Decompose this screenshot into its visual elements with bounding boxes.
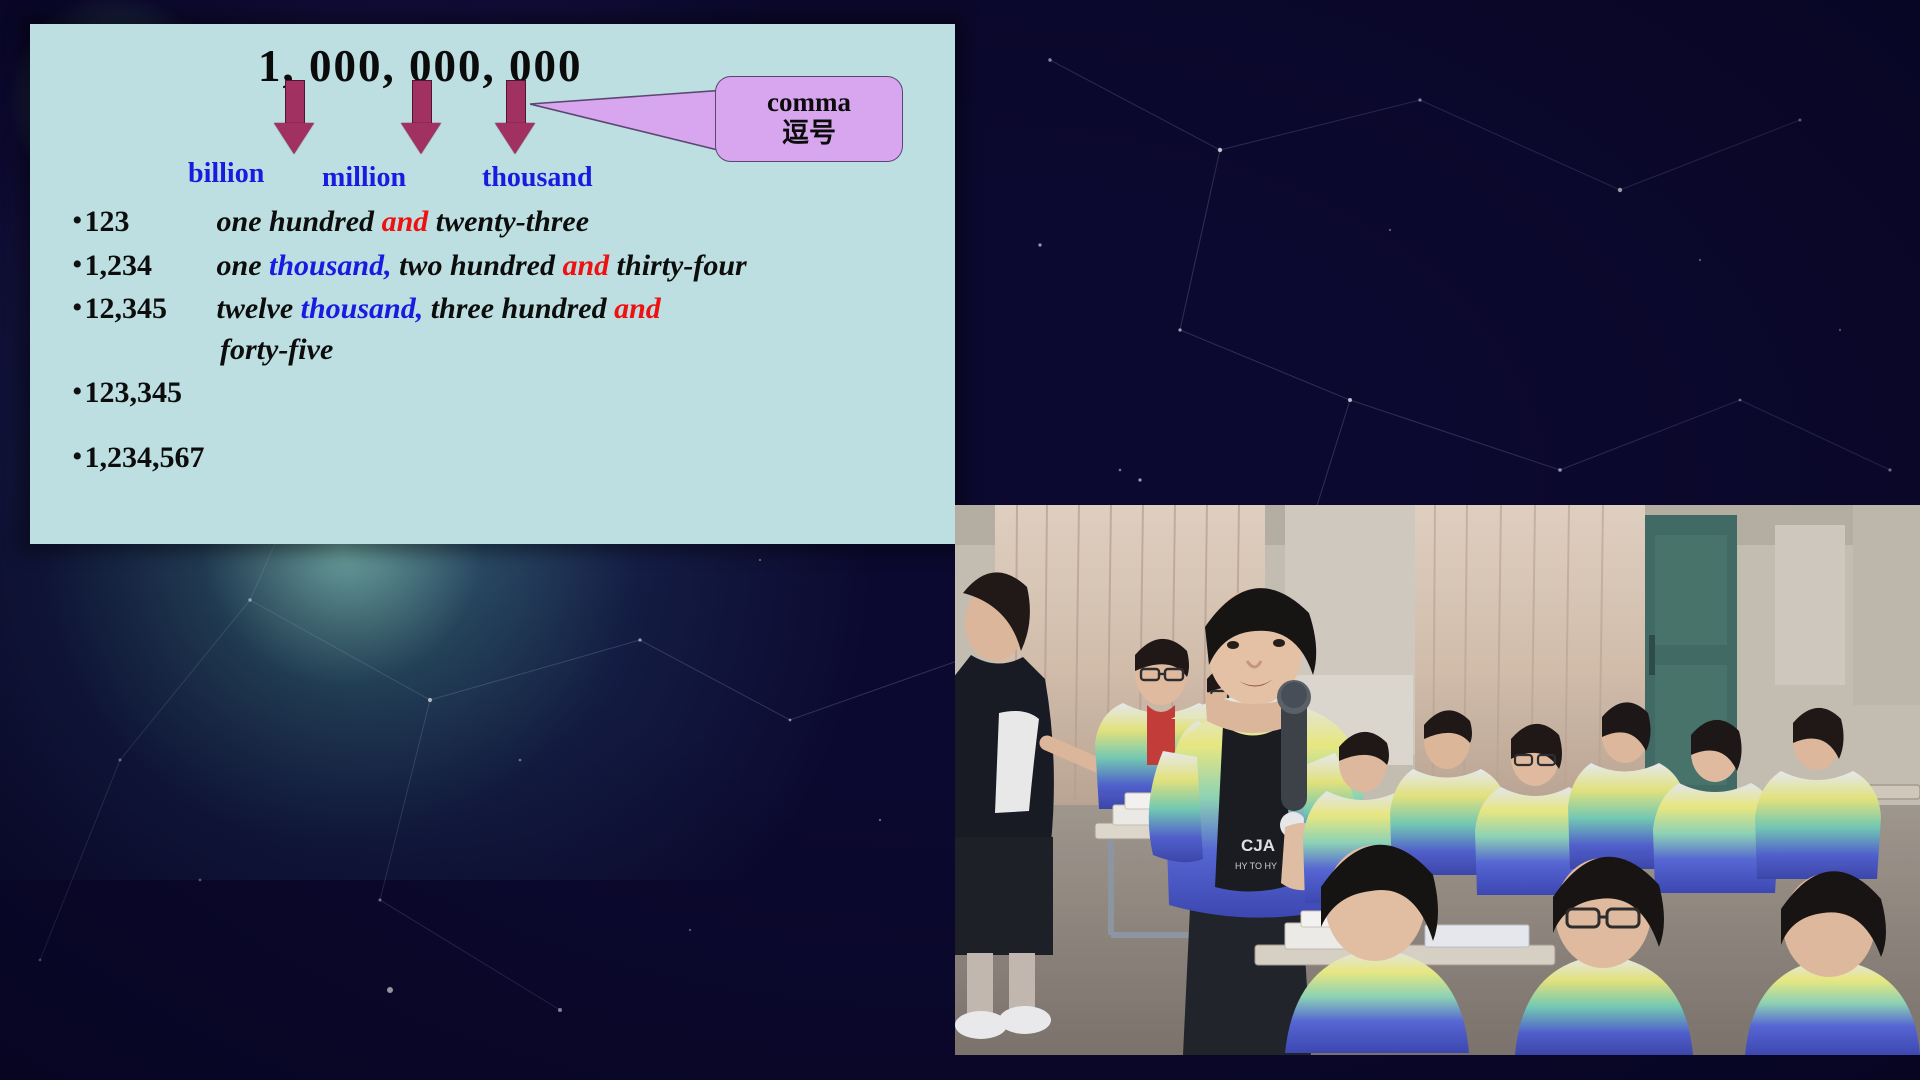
- arrow-shaft: [285, 80, 305, 125]
- list-item: • 12,345 twelve thousand, three hundred …: [72, 293, 952, 325]
- place-label-billion: billion: [188, 158, 264, 190]
- callout-english-label: comma: [767, 88, 851, 116]
- bullet-dot-icon: •: [72, 377, 83, 407]
- arrow-head: [495, 123, 535, 154]
- bullet-dot-icon: •: [72, 293, 83, 323]
- words-part: twenty-three: [428, 205, 589, 238]
- example-number: 1,234,567: [85, 442, 217, 474]
- arrow-shaft: [412, 80, 432, 125]
- list-item: • 123,345: [72, 377, 952, 409]
- example-words-continuation: forty-five: [220, 333, 952, 367]
- example-words: one hundred and twenty-three: [217, 206, 590, 238]
- number-examples-list: • 123 one hundred and twenty-three • 1,2…: [72, 206, 952, 486]
- words-part-and: and: [382, 205, 429, 238]
- presentation-slide: 1, 000, 000, 000 billion million thousan…: [30, 24, 955, 544]
- arrow-thousand: [495, 80, 535, 154]
- arrow-head: [274, 123, 314, 154]
- example-number: 12,345: [85, 293, 217, 325]
- words-part: twelve: [217, 292, 301, 325]
- classroom-scene: CJA HY TO HY: [955, 505, 1920, 1055]
- words-part-thousand: thousand,: [269, 249, 392, 282]
- list-item: • 1,234 one thousand, two hundred and th…: [72, 250, 952, 282]
- callout-chinese-label: 逗号: [782, 118, 836, 150]
- example-words: one thousand, two hundred and thirty-fou…: [217, 250, 747, 282]
- callout-pointer: [530, 76, 730, 168]
- words-part: three hundred: [423, 292, 614, 325]
- example-number: 1,234: [85, 250, 217, 282]
- classroom-video-overlay: CJA HY TO HY: [955, 505, 1920, 1055]
- arrow-head: [401, 123, 441, 154]
- place-label-million: million: [322, 162, 406, 194]
- words-part-and: and: [614, 292, 661, 325]
- arrow-shaft: [506, 80, 526, 125]
- words-part: one hundred: [217, 205, 382, 238]
- list-item: • 123 one hundred and twenty-three: [72, 206, 952, 238]
- words-part-and: and: [562, 249, 609, 282]
- bullet-dot-icon: •: [72, 206, 83, 236]
- example-words: twelve thousand, three hundred and: [217, 293, 661, 325]
- example-number: 123: [85, 206, 217, 238]
- arrow-million: [401, 80, 441, 154]
- bullet-dot-icon: •: [72, 442, 83, 472]
- arrow-billion: [274, 80, 314, 154]
- words-part: thirty-four: [609, 249, 747, 282]
- words-part-thousand: thousand,: [301, 292, 424, 325]
- words-part: one: [217, 249, 270, 282]
- comma-callout: comma 逗号: [715, 76, 903, 162]
- words-part: two hundred: [392, 249, 563, 282]
- example-number: 123,345: [85, 377, 217, 409]
- list-item: • 1,234,567: [72, 442, 952, 474]
- bullet-dot-icon: •: [72, 250, 83, 280]
